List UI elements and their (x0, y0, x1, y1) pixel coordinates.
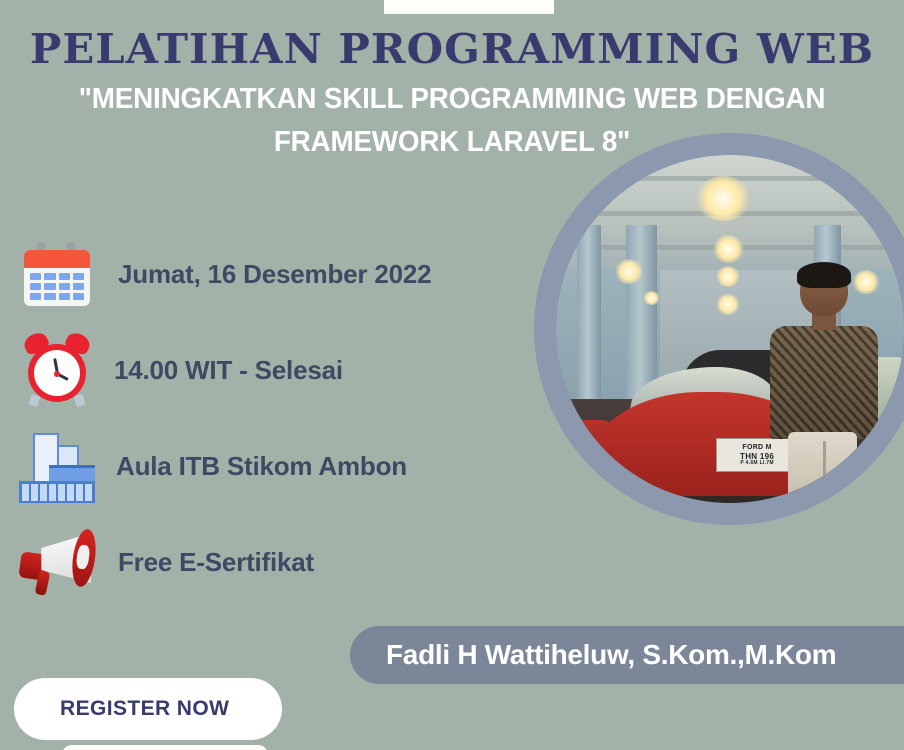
person-hair (797, 262, 851, 288)
detail-row-location: Aula ITB Stikom Ambon (0, 418, 520, 514)
detail-row-certificate: Free E-Sertifikat (0, 514, 520, 610)
page-title: PELATIHAN PROGRAMMING WEB (0, 25, 904, 73)
person-leg-split (823, 441, 826, 503)
calendar-icon (16, 233, 98, 315)
bottom-white-shape (62, 745, 268, 750)
register-now-label: REGISTER NOW (60, 697, 229, 721)
megaphone-icon (16, 521, 98, 603)
detail-text-location: Aula ITB Stikom Ambon (116, 451, 407, 482)
detail-text-date: Jumat, 16 Desember 2022 (118, 259, 431, 290)
speaker-photo: FORD M THN 196 P 4.6M LI.7M (556, 155, 904, 503)
detail-text-time: 14.00 WIT - Selesai (114, 355, 343, 386)
subtitle-line-1: "MENINGKATKAN SKILL PROGRAMMING WEB DENG… (56, 78, 847, 121)
photo-column (577, 225, 601, 416)
photo-lamp (615, 259, 643, 283)
photo-scene: FORD M THN 196 P 4.6M LI.7M (556, 155, 904, 503)
speaker-name-banner: Fadli H Wattiheluw, S.Kom.,M.Kom (350, 626, 904, 684)
event-details-list: Jumat, 16 Desember 2022 14.00 WIT - Sele… (0, 226, 520, 610)
photo-lamp (643, 291, 660, 305)
speaker-name: Fadli H Wattiheluw, S.Kom.,M.Kom (386, 639, 836, 671)
detail-row-date: Jumat, 16 Desember 2022 (0, 226, 520, 322)
detail-text-certificate: Free E-Sertifikat (118, 547, 314, 578)
top-white-tab (384, 0, 554, 14)
photo-lamp (713, 235, 744, 263)
detail-row-time: 14.00 WIT - Selesai (0, 322, 520, 418)
register-now-button[interactable]: REGISTER NOW (14, 678, 282, 740)
event-poster: PELATIHAN PROGRAMMING WEB "MENINGKATKAN … (0, 0, 904, 750)
photo-lamp (695, 176, 751, 221)
alarm-clock-icon (16, 329, 98, 411)
office-building-icon (16, 425, 98, 507)
person-shirt (770, 326, 879, 440)
photo-person (765, 266, 883, 503)
